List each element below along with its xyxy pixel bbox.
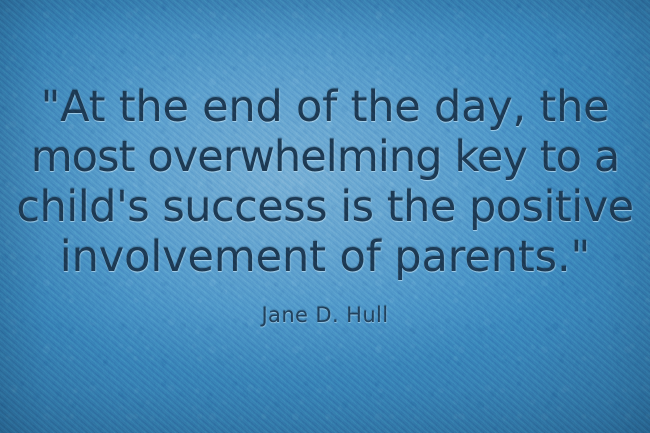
background-paper-fibre-texture xyxy=(0,0,650,433)
quote-text-block: "At the end of the day, the most overwhe… xyxy=(0,82,650,282)
quote-line-1: "At the end of the day, the xyxy=(0,82,650,132)
quote-line-3: child's success is the positive xyxy=(0,182,650,232)
background-paper-mottling xyxy=(0,0,650,433)
overlay-film-grain xyxy=(0,0,650,433)
quote-attribution: Jane D. Hull xyxy=(0,303,650,327)
quote-line-2: most overwhelming key to a xyxy=(0,132,650,182)
quote-line-4: involvement of parents." xyxy=(0,232,650,282)
background-edge-vignette xyxy=(0,0,650,433)
background-center-glow xyxy=(0,0,650,433)
quote-image-canvas: "At the end of the day, the most overwhe… xyxy=(0,0,650,433)
